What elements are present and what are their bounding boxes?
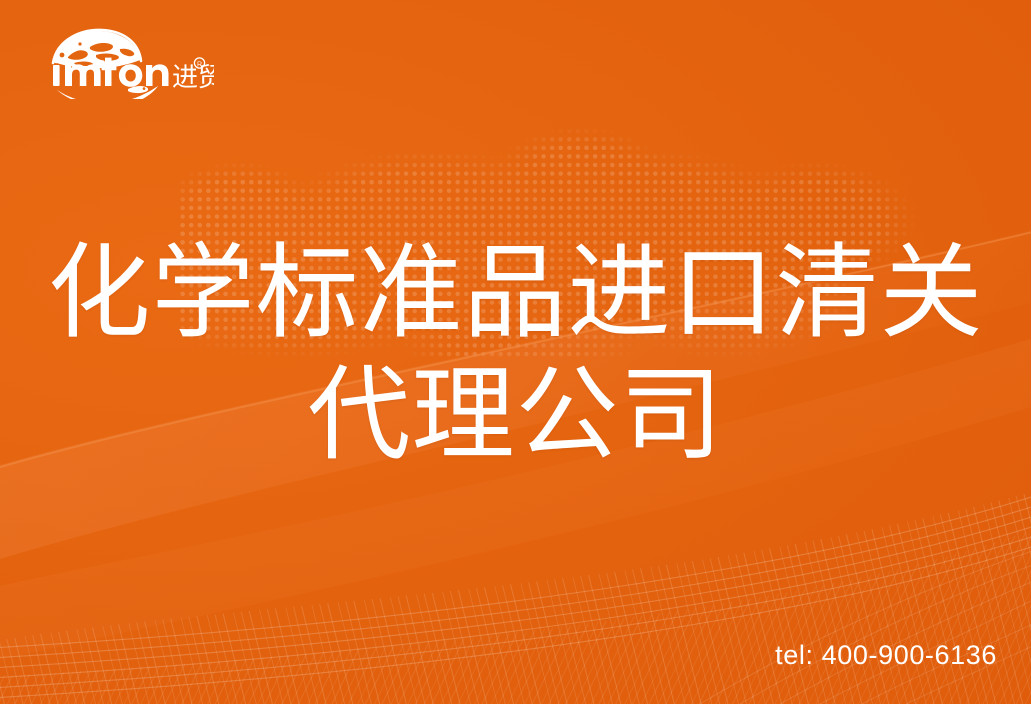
contact-phone[interactable]: tel: 400-900-6136 bbox=[775, 640, 997, 670]
logo-wordmark-cn: 进贸通 bbox=[172, 62, 214, 92]
page-title-line-1: 化学标准品进口清关 bbox=[0, 232, 1031, 354]
promo-banner: 进贸通 R 化学标准品进口清关 代理公司 tel: 400-900-6136 bbox=[0, 0, 1031, 704]
brand-logo[interactable]: 进贸通 R bbox=[44, 27, 214, 99]
contact-phone-text: tel: 400-900-6136 bbox=[775, 640, 997, 670]
page-title-line-2: 代理公司 bbox=[0, 354, 1031, 476]
svg-text:R: R bbox=[197, 61, 202, 68]
page-title: 化学标准品进口清关 代理公司 bbox=[0, 232, 1031, 476]
swoosh-icon bbox=[56, 86, 158, 99]
